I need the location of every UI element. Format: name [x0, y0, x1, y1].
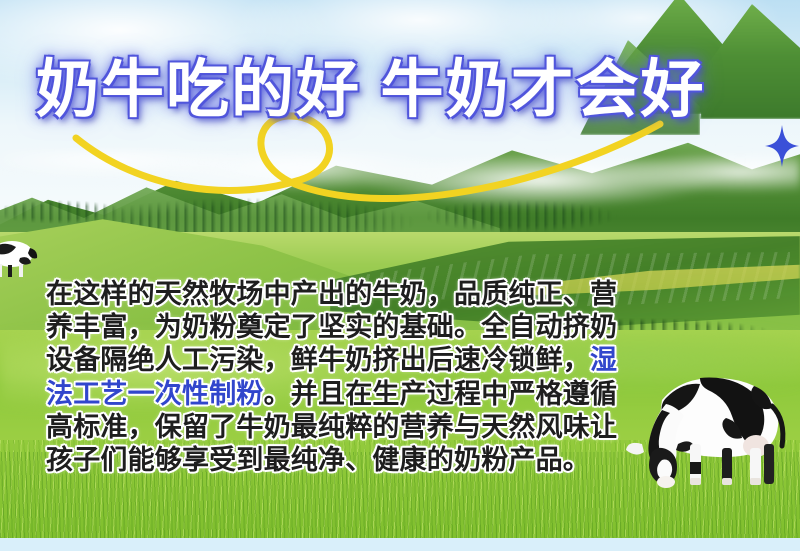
- body-line: 孩子们能够享受到最纯净、健康的奶粉产品。: [46, 444, 566, 477]
- milk-pasture-poster: 奶牛吃的好 牛奶才会好 在这样的天然牧场中产出的牛奶，品质纯正、营 养丰富，为奶…: [0, 0, 800, 551]
- body-text-highlight: 湿: [590, 345, 617, 375]
- body-line: 养丰富，为奶粉奠定了坚实的基础。全自动挤奶: [46, 311, 566, 344]
- body-copy: 在这样的天然牧场中产出的牛奶，品质纯正、营 养丰富，为奶粉奠定了坚实的基础。全自…: [46, 278, 566, 477]
- body-text-highlight: 法工艺一次性制粉: [46, 379, 264, 409]
- body-text-segment: 。并且在生产过程中严格遵循: [264, 379, 618, 409]
- cow-grazing-right: [604, 348, 800, 490]
- body-line: 在这样的天然牧场中产出的牛奶，品质纯正、营: [46, 278, 566, 311]
- body-text-segment: 高标准，保留了牛奶最纯粹的营养与天然风味让: [46, 412, 617, 442]
- body-text-segment: 设备隔绝人工污染，鲜牛奶挤出后速冷锁鲜，: [46, 345, 590, 375]
- body-line: 设备隔绝人工污染，鲜牛奶挤出后速冷锁鲜，湿: [46, 344, 566, 377]
- body-text-segment: 在这样的天然牧场中产出的牛奶，品质纯正、营: [46, 279, 617, 309]
- page-title: 奶牛吃的好 牛奶才会好: [36, 48, 776, 132]
- body-text-segment: 养丰富，为奶粉奠定了坚实的基础。全自动挤奶: [46, 312, 617, 342]
- body-line: 法工艺一次性制粉。并且在生产过程中严格遵循: [46, 378, 566, 411]
- body-text-segment: 孩子们能够享受到最纯净、健康的奶粉产品。: [46, 445, 590, 475]
- sparkle-icon: [765, 125, 799, 167]
- bottom-color-strip: [0, 538, 800, 551]
- body-line: 高标准，保留了牛奶最纯粹的营养与天然风味让: [46, 411, 566, 444]
- cow-distant-left: [0, 228, 42, 280]
